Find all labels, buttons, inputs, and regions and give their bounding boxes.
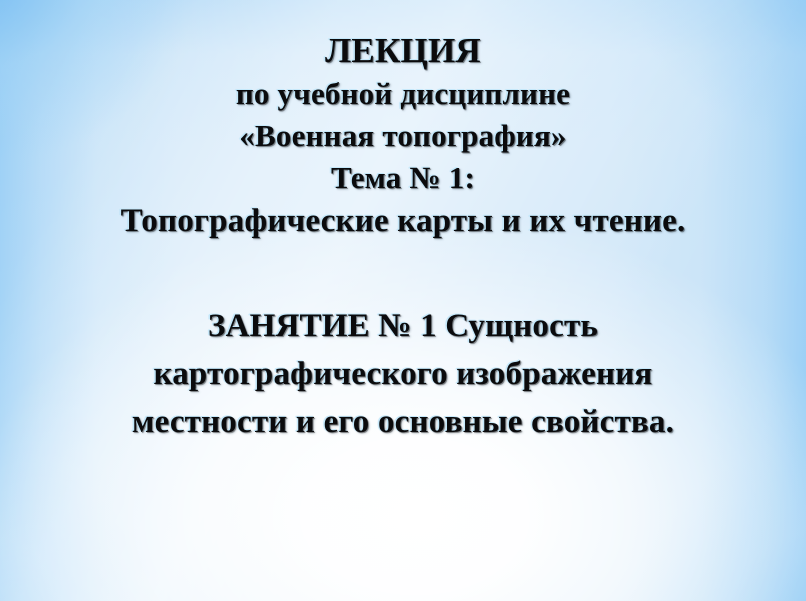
title-line-topic-name: Топографические карты и их чтение. xyxy=(0,199,806,244)
title-block: ЛЕКЦИЯ по учебной дисциплине «Военная то… xyxy=(0,29,806,244)
lesson-block: ЗАНЯТИЕ № 1 Сущность картографического и… xyxy=(0,302,806,446)
lesson-line-third: местности и его основные свойства. xyxy=(0,398,806,446)
title-line-lecture: ЛЕКЦИЯ xyxy=(0,29,806,73)
slide-content: ЛЕКЦИЯ по учебной дисциплине «Военная то… xyxy=(0,0,806,601)
lesson-line-second: картографического изображения xyxy=(0,350,806,398)
presentation-slide: ЛЕКЦИЯ по учебной дисциплине «Военная то… xyxy=(0,0,806,601)
title-line-subject: «Военная топография» xyxy=(0,115,806,157)
title-line-discipline: по учебной дисциплине xyxy=(0,73,806,115)
lesson-line-number: ЗАНЯТИЕ № 1 Сущность xyxy=(0,302,806,350)
title-line-topic-number: Тема № 1: xyxy=(0,157,806,199)
